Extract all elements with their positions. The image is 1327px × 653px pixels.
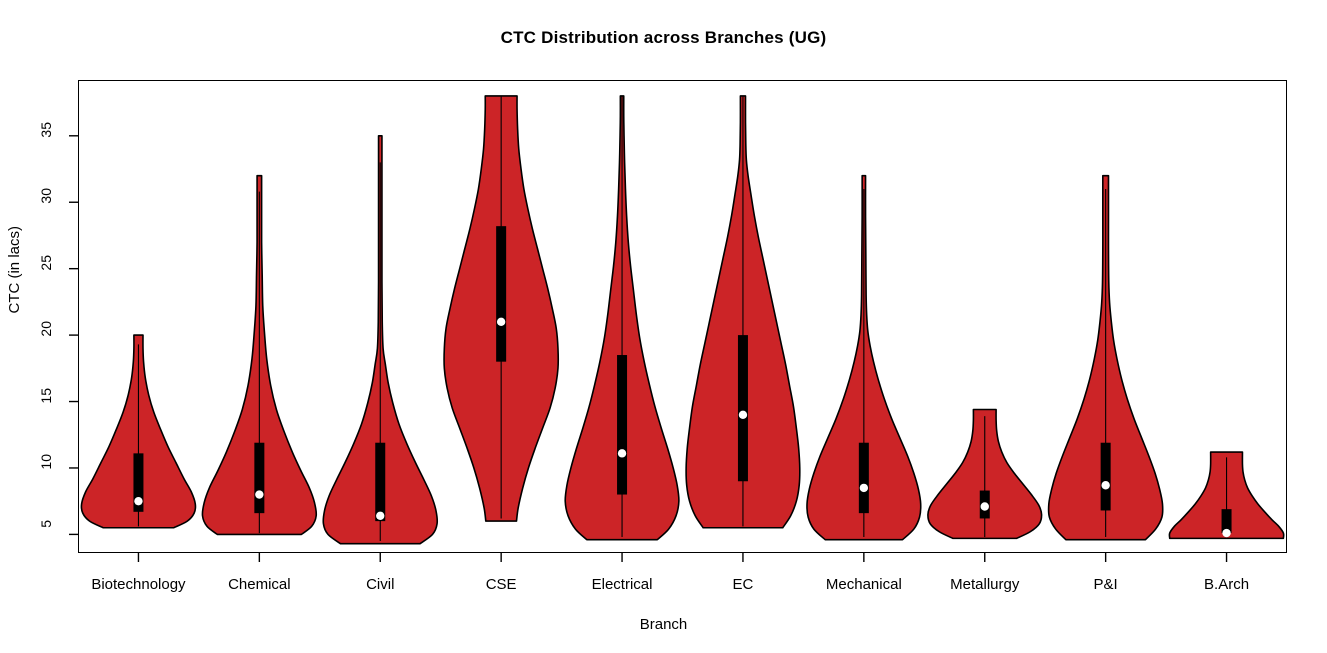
violin-metallurgy xyxy=(928,410,1042,539)
y-tick-label: 10 xyxy=(38,454,56,470)
y-tick-label: 25 xyxy=(38,255,56,271)
x-tick-label-electrical: Electrical xyxy=(592,576,653,593)
violin-biotechnology xyxy=(81,335,195,528)
violin-plot-figure: CTC Distribution across Branches (UG) 51… xyxy=(0,0,1327,653)
x-tick-label-metallurgy: Metallurgy xyxy=(950,576,1019,593)
y-tick-label: 30 xyxy=(38,188,56,204)
violin-p-i xyxy=(1049,176,1163,540)
violin-b-arch xyxy=(1169,452,1283,538)
violin-chemical xyxy=(202,176,316,535)
x-tick-label-chemical: Chemical xyxy=(228,576,291,593)
x-tick-label-biotechnology: Biotechnology xyxy=(91,576,185,593)
y-tick-label: 35 xyxy=(38,122,56,138)
x-tick-label-p-i: P&I xyxy=(1094,576,1118,593)
violin-ec xyxy=(686,96,800,528)
x-axis-title: Branch xyxy=(0,616,1327,633)
violin-civil xyxy=(323,136,437,544)
violin-mechanical xyxy=(807,176,921,540)
chart-canvas xyxy=(0,0,1327,653)
y-tick-label: 20 xyxy=(38,321,56,337)
x-tick-label-civil: Civil xyxy=(366,576,394,593)
y-tick-label: 5 xyxy=(38,520,56,528)
x-tick-label-ec: EC xyxy=(733,576,754,593)
violin-cse xyxy=(444,96,558,521)
x-tick-label-mechanical: Mechanical xyxy=(826,576,902,593)
y-tick-label: 15 xyxy=(38,388,56,404)
violin-series xyxy=(81,96,1283,544)
x-tick-label-b-arch: B.Arch xyxy=(1204,576,1249,593)
y-axis-title: CTC (in lacs) xyxy=(6,226,28,314)
x-tick-label-cse: CSE xyxy=(486,576,517,593)
violin-electrical xyxy=(565,96,679,540)
